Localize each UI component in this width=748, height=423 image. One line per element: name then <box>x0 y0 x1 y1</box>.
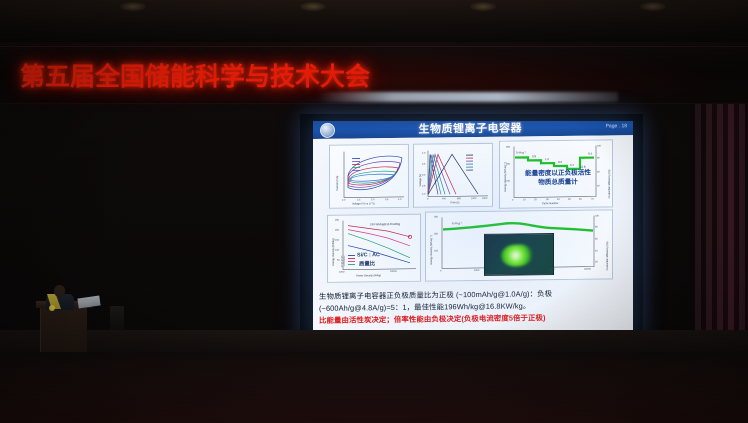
audience-area <box>0 352 748 423</box>
chart-cv-curves: 2.0 2.5 3.0 3.5 4.0 Voltage (V) vs Li⁺/L… <box>329 144 409 209</box>
cv-xlabel: Voltage (V) vs Li⁺/Li <box>352 202 375 205</box>
long-cycle-ylabel: Energy Density (Wh kg⁻¹) <box>430 235 433 265</box>
chart-charge-discharge: 4.0 3.5 3.0 2.5 2.0 0 400 800 1200 1600 … <box>413 143 493 208</box>
rate-capability-annotation: 能量密度以正负极活性物质总质量计 <box>522 169 594 188</box>
ceiling <box>0 0 748 42</box>
ceiling-lamp <box>120 2 146 11</box>
auditorium-photo: 第五届全国储能科学与技术大会 生物质锂离子电容器 Page . 18 <box>0 0 748 423</box>
cd-ylabel: Voltage (V) <box>419 174 422 187</box>
long-cycle-y2label: Coulombic Efficiency (%) <box>606 242 609 271</box>
university-emblem-icon <box>320 122 335 137</box>
ceiling-lamp <box>300 2 326 11</box>
green-laser-spot <box>501 244 533 266</box>
stage-monitor-speaker <box>110 306 124 330</box>
ragone-xlabel: Power Density (W/kg) <box>356 274 381 277</box>
chart-rate-capability: 0.4A g⁻¹ 0.8 1.6 3.2 6.4 12.8 0.4 能量密度以正… <box>499 139 613 208</box>
rate-ylabel: Energy Density (Wh kg⁻¹) <box>504 162 507 192</box>
ragone-legend-subtitle: 质量比 <box>359 259 375 267</box>
ragone-legend-title: Si/C : AC <box>357 252 380 258</box>
stage-curtain <box>690 102 748 352</box>
chart-ragone-plot: 196 Wh/kg@16.8 kW/kg Si/C : AC 质量比 1:1 1… <box>327 214 421 283</box>
strip-light <box>318 92 618 102</box>
ragone-annotation: 196 Wh/kg@16.8 kW/kg <box>370 222 400 226</box>
slide-body: 2.0 2.5 3.0 3.5 4.0 Voltage (V) vs Li⁺/L… <box>313 135 633 339</box>
rate-xlabel: Cycle Number <box>542 202 558 205</box>
presentation-slide: 生物质锂离子电容器 Page . 18 <box>313 121 633 339</box>
ragone-ylabel: Energy Density (Wh/kg) <box>332 238 335 265</box>
presenter-badge <box>49 305 55 311</box>
chart-long-cycle: 6.4A g⁻¹ 0 4000 8000 12000 16000 300 200… <box>425 209 613 281</box>
charge-discharge-svg <box>414 144 492 207</box>
presenter-head <box>54 285 65 297</box>
cd-xlabel: Time (s) <box>450 201 459 204</box>
slide-text-block: 生物质锂离子电容器正负极质量比为正极 (~100mAh/g@1.0A/g)：负极… <box>319 287 627 327</box>
slide-page-number: Page . 18 <box>606 123 627 129</box>
ceiling-lamp <box>640 2 666 11</box>
ceiling-lamp <box>470 2 496 11</box>
rate-y2label: Coulombic Efficiency (%) <box>608 170 611 199</box>
long-cycle-xlabel: Cycle Number <box>504 272 520 275</box>
cv-ylabel: Current (mA) <box>336 176 339 191</box>
slide-text-line-3: 比能量由活性炭决定；倍率性能由负极决定(负极电流密度5倍于正极) <box>319 311 627 327</box>
long-cycle-annotation: 6.4A g⁻¹ <box>452 221 462 225</box>
laser-photo-inset <box>484 233 554 276</box>
